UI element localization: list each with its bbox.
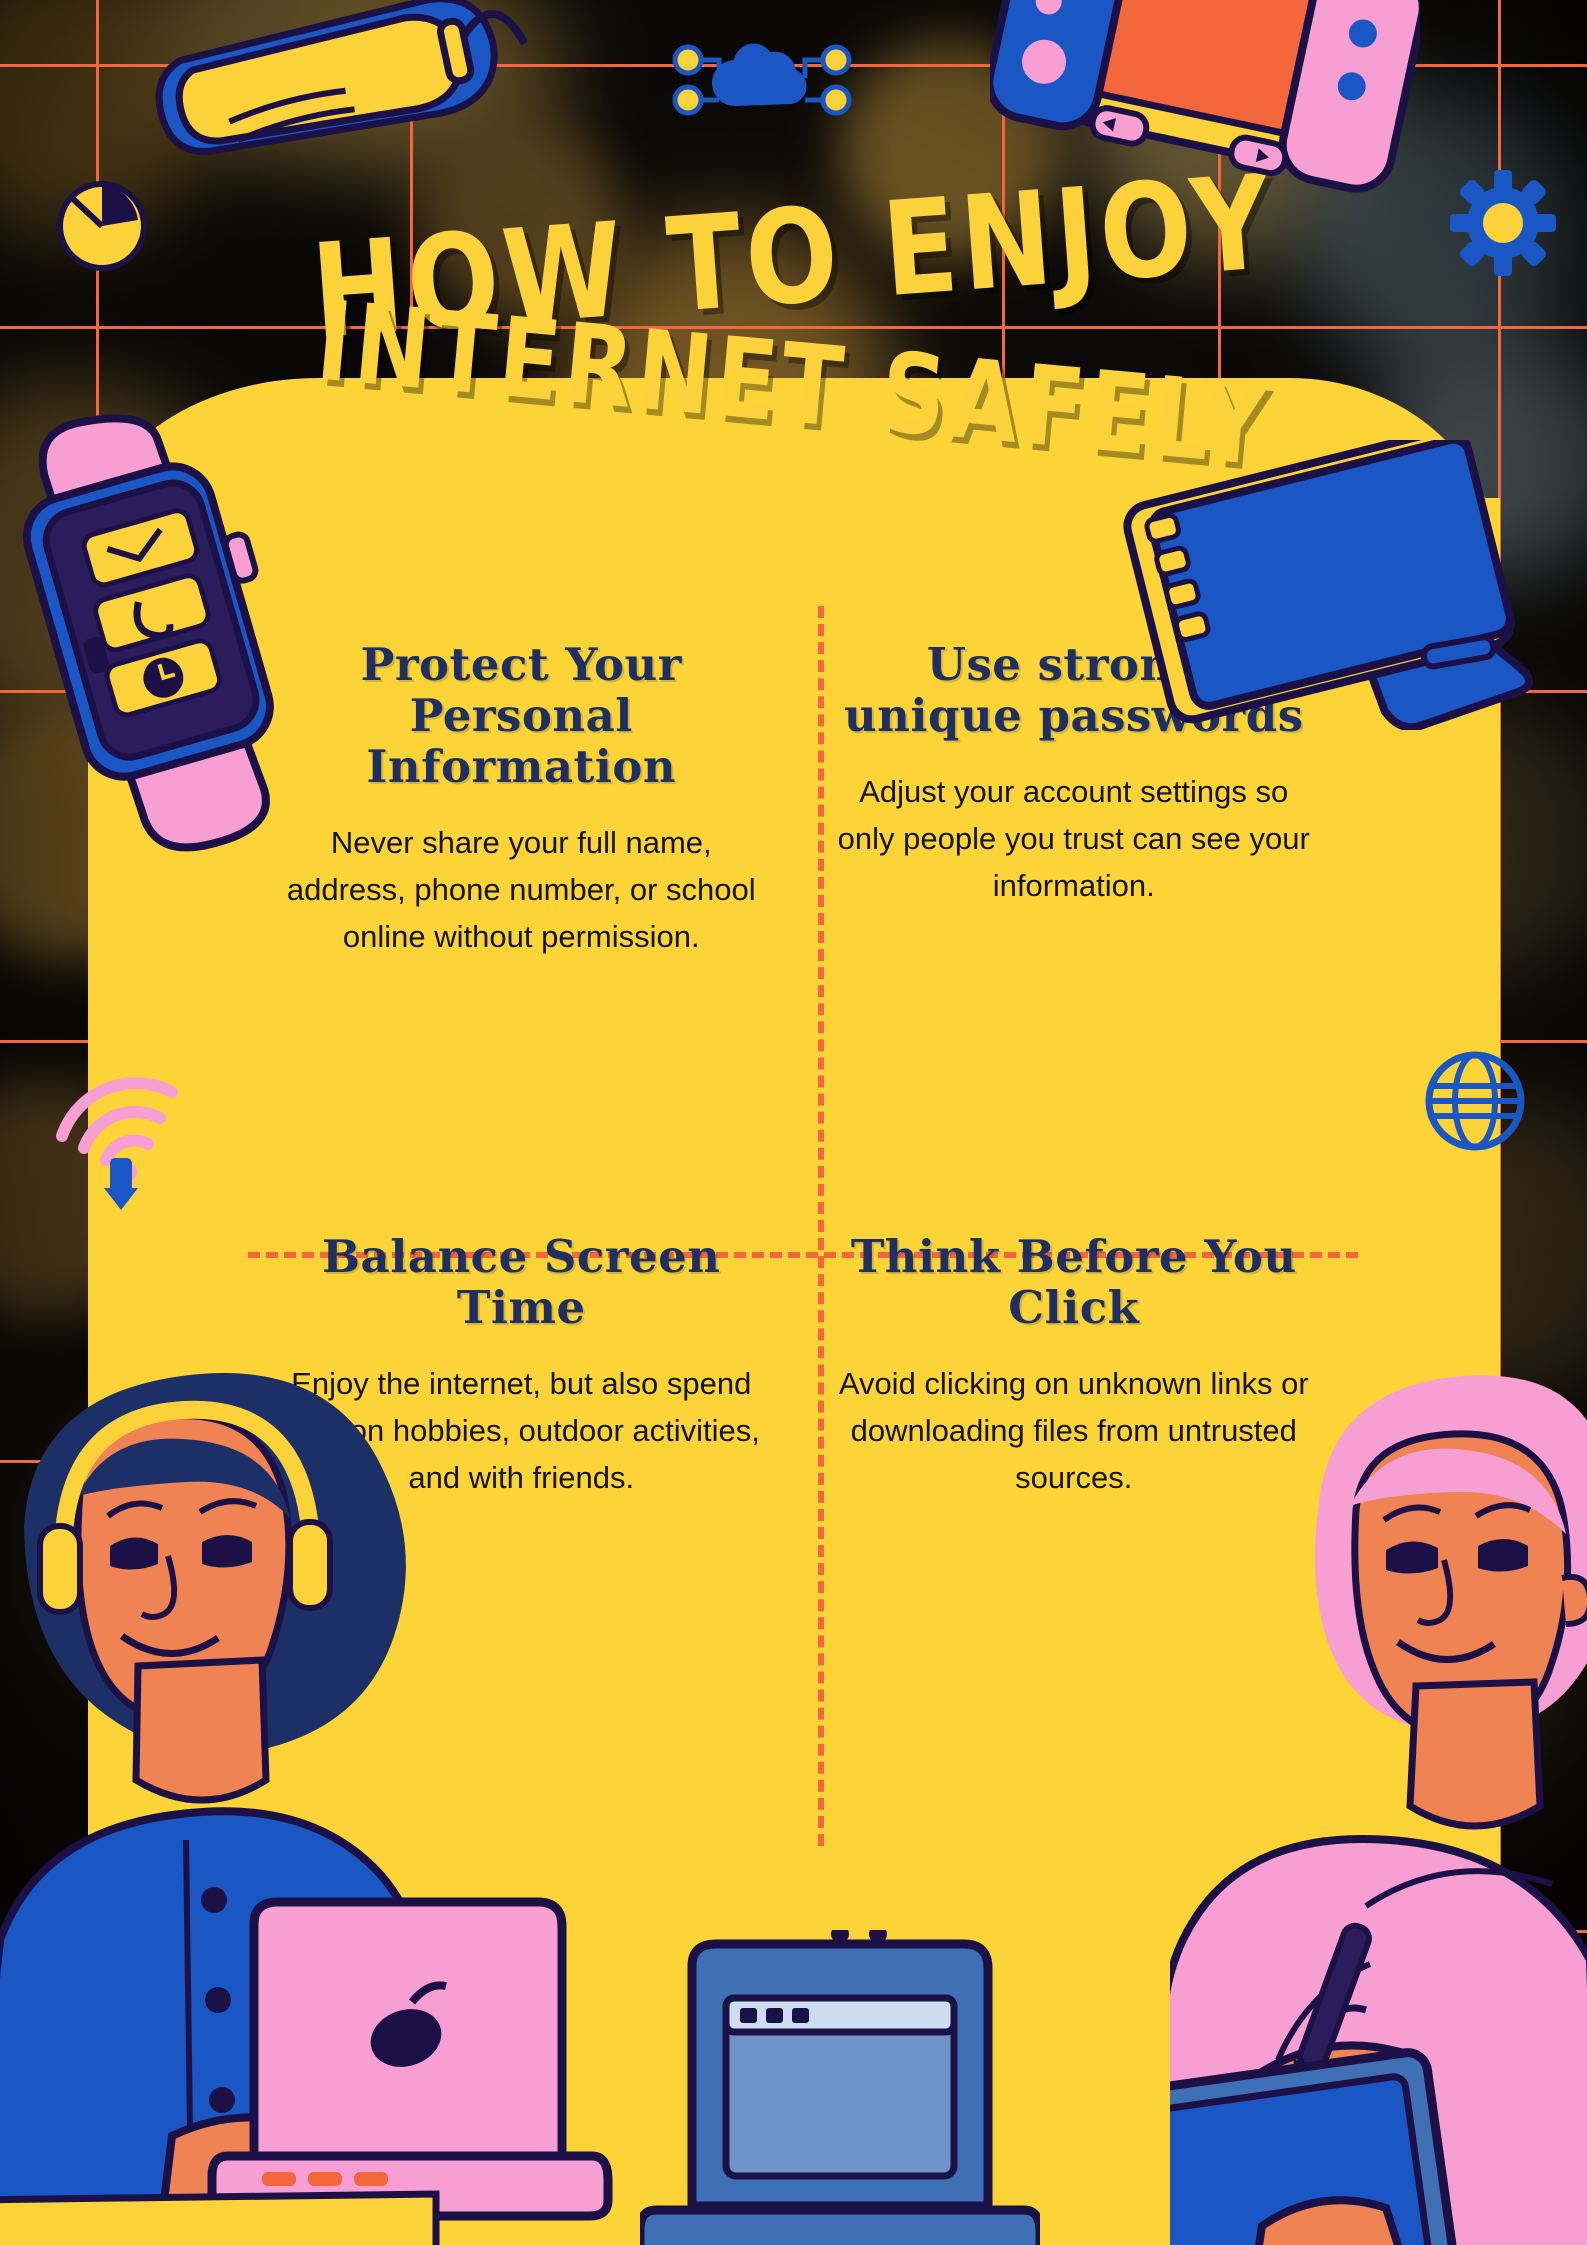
tip-heading: Protect Your Personal Information	[279, 640, 764, 793]
tips-grid: Protect Your Personal Information Never …	[245, 640, 1350, 1700]
tip-heading: Use strong, unique passwords	[832, 640, 1317, 742]
tip-heading: Think Before You Click	[832, 1232, 1317, 1334]
infographic-poster: HOW TO ENJOY INTERNET SAFELY Protect You…	[0, 0, 1587, 2245]
tip-body: Enjoy the internet, but also spend time …	[279, 1360, 764, 1501]
tip-card-think-before-you-click: Think Before You Click Avoid clicking on…	[798, 1170, 1351, 1700]
tip-body: Never share your full name, address, pho…	[279, 819, 764, 960]
tip-body: Avoid clicking on unknown links or downl…	[832, 1360, 1317, 1501]
tip-heading: Balance Screen Time	[279, 1232, 764, 1334]
tip-body: Adjust your account settings so only peo…	[832, 768, 1317, 909]
tip-card-balance-screen-time: Balance Screen Time Enjoy the internet, …	[245, 1170, 798, 1700]
tip-card-strong-passwords: Use strong, unique passwords Adjust your…	[798, 640, 1351, 1170]
tip-card-protect-personal-information: Protect Your Personal Information Never …	[245, 640, 798, 1170]
